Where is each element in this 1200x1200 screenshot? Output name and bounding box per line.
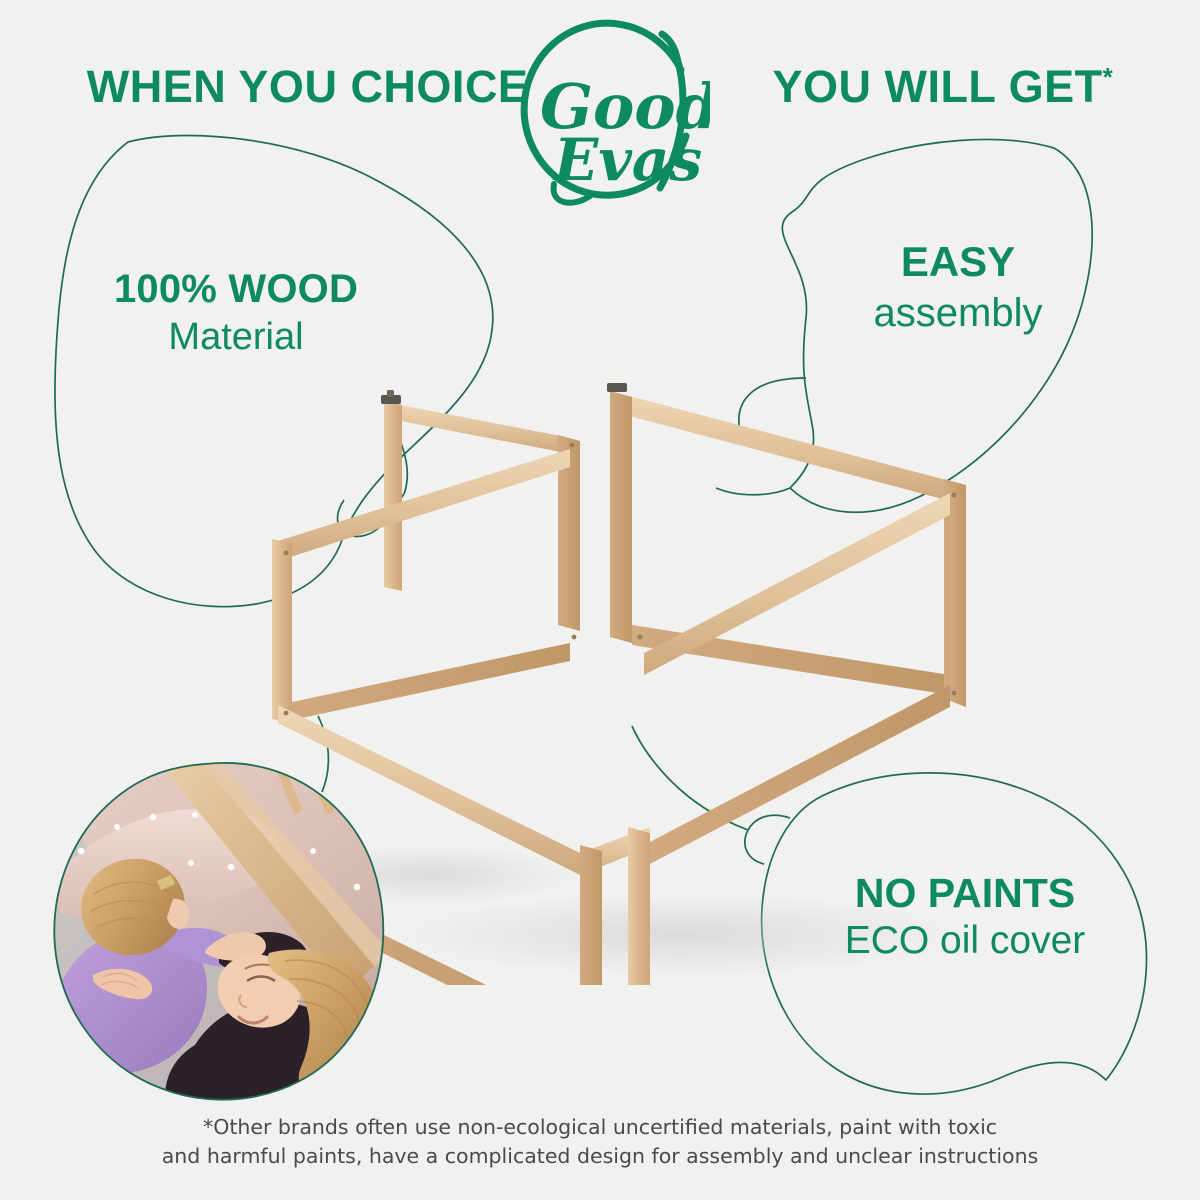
callout-no-paints: NO PAINTS ECO oil cover [790, 872, 1140, 962]
callout-easy-subline: assembly [808, 292, 1108, 334]
crib-metal-bracket-cap [387, 390, 394, 397]
header-right-label: YOU WILL GET [772, 61, 1102, 112]
callout-wood-subline: Material [52, 318, 420, 358]
callout-wood-headline: 100% WOOD [52, 268, 420, 310]
footnote: *Other brands often use non-ecological u… [0, 1113, 1200, 1171]
header-right-text: YOU WILL GET* [772, 64, 1113, 109]
crib-rail-back-left-top [390, 403, 566, 453]
callout-easy-assembly: EASY assembly [808, 240, 1108, 334]
logo-word-evas: Evas [552, 126, 702, 194]
inset-photo-svg [45, 755, 395, 1105]
crib-post-center-2 [628, 827, 650, 985]
footnote-line-1: *Other brands often use non-ecological u… [0, 1113, 1200, 1142]
footnote-line-2: and harmful paints, have a complicated d… [0, 1142, 1200, 1171]
mother-and-child-photo [45, 755, 395, 1105]
callout-paints-subline: ECO oil cover [790, 921, 1140, 962]
header-asterisk: * [1103, 62, 1114, 92]
logo-svg: Good Evas [510, 8, 710, 220]
header-left-text: WHEN YOU CHOICE [87, 64, 529, 109]
crib-post-left-far [272, 539, 292, 723]
callout-paints-headline: NO PAINTS [790, 872, 1140, 915]
callout-100-percent-wood: 100% WOOD Material [52, 268, 420, 358]
crib-post-back-right-inner [610, 391, 632, 643]
infographic-canvas: WHEN YOU CHOICE YOU WILL GET* Good Evas [0, 0, 1200, 1200]
callout-easy-headline: EASY [808, 240, 1108, 284]
crib-metal-bracket-2 [607, 383, 627, 392]
inset-photo-content [45, 755, 395, 1105]
crib-post-center [580, 845, 602, 985]
brand-logo: Good Evas [510, 8, 710, 220]
